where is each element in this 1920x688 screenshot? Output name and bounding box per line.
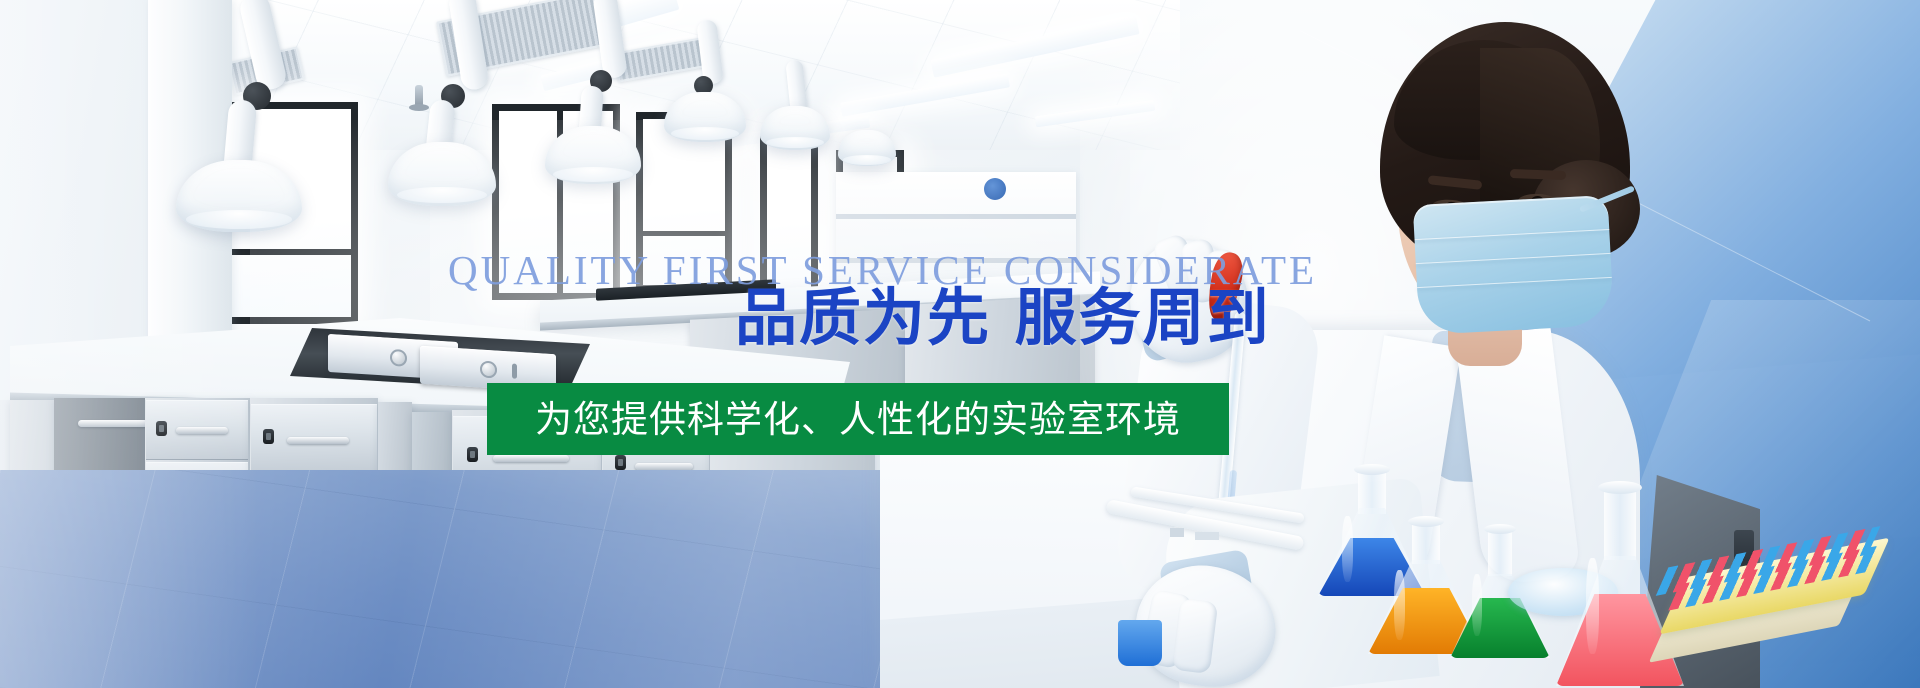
chinese-headline: 品质为先 服务周到 <box>735 285 1271 350</box>
left-vignette <box>0 0 260 688</box>
banner-text-block: QUALITY FIRST SERVICE CONSIDERATE 品质为先 服… <box>0 0 1920 688</box>
green-subtitle-text: 为您提供科学化、人性化的实验室环境 <box>535 401 1181 438</box>
promo-banner: QUALITY FIRST SERVICE CONSIDERATE 品质为先 服… <box>0 0 1920 688</box>
green-subtitle-bar: 为您提供科学化、人性化的实验室环境 <box>487 383 1229 455</box>
